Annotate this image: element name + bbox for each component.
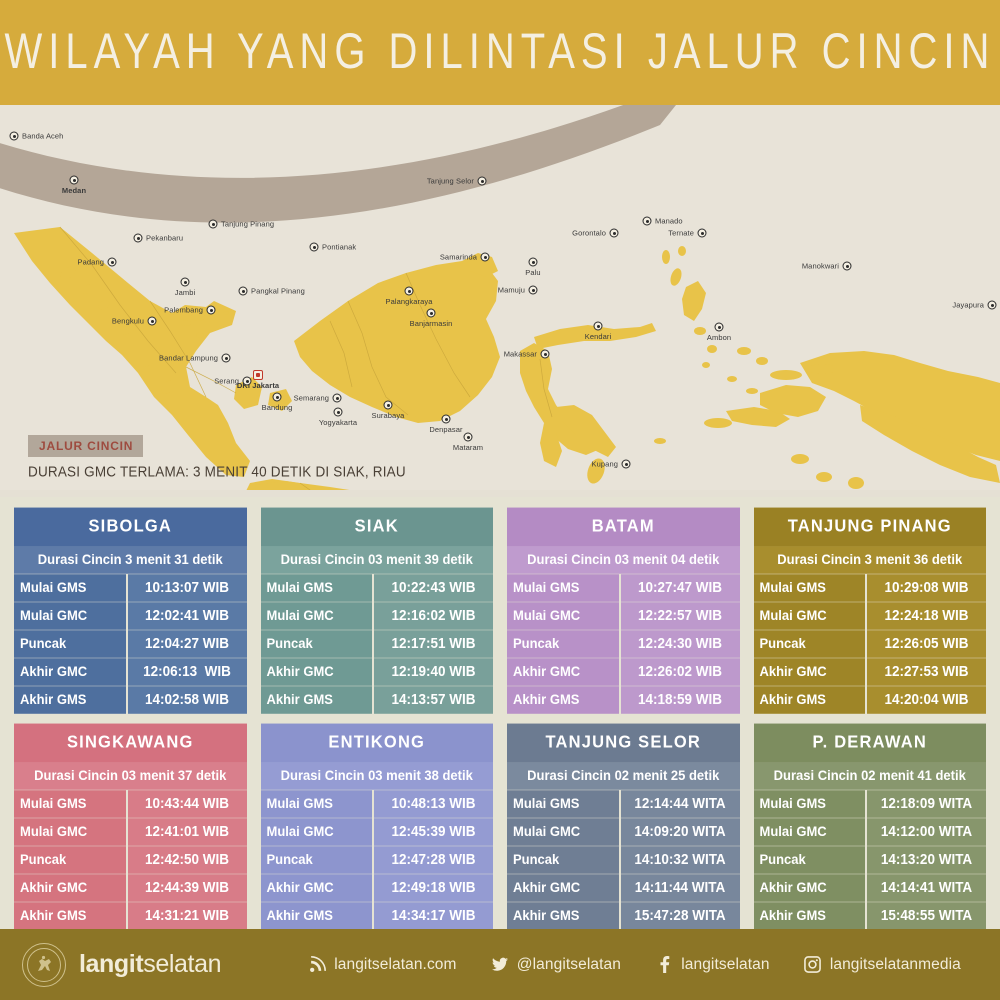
timing-row-value: 14:12:00 WITA bbox=[867, 818, 986, 846]
timing-row-value: 14:02:58 WIB bbox=[128, 686, 247, 714]
timing-card: ENTIKONGDurasi Cincin 03 menit 38 detikM… bbox=[261, 725, 494, 929]
city-marker bbox=[148, 317, 157, 326]
timing-row-value: 14:13:57 WIB bbox=[374, 686, 493, 714]
city-marker bbox=[181, 278, 190, 287]
timing-card: TANJUNG SELORDurasi Cincin 02 menit 25 d… bbox=[507, 725, 740, 929]
timing-row-value: 14:14:41 WITA bbox=[867, 874, 986, 902]
city-marker bbox=[464, 433, 473, 442]
table-row: Mulai GMS10:27:47 WIB bbox=[507, 575, 740, 601]
table-row: Mulai GMC14:09:20 WITA bbox=[507, 819, 740, 845]
timing-card-table: Mulai GMS10:27:47 WIBMulai GMC12:22:57 W… bbox=[507, 575, 740, 713]
table-row: Akhir GMS15:47:28 WITA bbox=[507, 903, 740, 929]
table-row: Akhir GMC12:26:02 WIB bbox=[507, 659, 740, 685]
table-row: Akhir GMS14:18:59 WIB bbox=[507, 687, 740, 713]
timing-row-label: Mulai GMS bbox=[754, 574, 866, 602]
social-link-twitter[interactable]: @langitselatan bbox=[491, 956, 621, 974]
timing-row-value: 12:41:01 WIB bbox=[128, 818, 247, 846]
city-marker bbox=[108, 258, 117, 267]
city-label: Denpasar bbox=[429, 425, 462, 434]
city-label: Kendari bbox=[585, 332, 612, 341]
timing-row-label: Mulai GMS bbox=[507, 790, 619, 818]
timing-card-title: TANJUNG SELOR bbox=[507, 724, 740, 763]
timing-card-table: Mulai GMS10:22:43 WIBMulai GMC12:16:02 W… bbox=[261, 575, 494, 713]
timing-row-value: 12:26:05 WIB bbox=[867, 630, 986, 658]
brand-wordmark-bold: langit bbox=[79, 950, 143, 978]
timing-card-table: Mulai GMS10:29:08 WIBMulai GMC12:24:18 W… bbox=[754, 575, 987, 713]
timing-row-label: Puncak bbox=[754, 846, 866, 874]
city-marker bbox=[310, 243, 319, 252]
timing-card-title: BATAM bbox=[507, 508, 740, 547]
city-marker bbox=[405, 287, 414, 296]
timing-row-label: Akhir GMC bbox=[14, 658, 126, 686]
table-row: Mulai GMS10:48:13 WIB bbox=[261, 791, 494, 817]
city-marker bbox=[622, 460, 631, 469]
timing-row-value: 12:22:57 WIB bbox=[621, 602, 740, 630]
city-marker bbox=[384, 401, 393, 410]
instagram-icon bbox=[804, 956, 822, 974]
city-marker bbox=[427, 309, 436, 318]
timing-row-value: 14:09:20 WITA bbox=[621, 818, 740, 846]
timing-row-value: 14:13:20 WITA bbox=[867, 846, 986, 874]
city-marker bbox=[239, 287, 248, 296]
timing-row-value: 12:17:51 WIB bbox=[374, 630, 493, 658]
city-label: Bandar Lampung bbox=[159, 354, 218, 363]
city-label: Palangkaraya bbox=[385, 297, 432, 306]
timing-card-duration: Durasi Cincin 03 menit 04 detik bbox=[507, 546, 740, 574]
timing-row-label: Akhir GMS bbox=[754, 902, 866, 930]
table-row: Akhir GMS14:13:57 WIB bbox=[261, 687, 494, 713]
city-label: Manokwari bbox=[802, 262, 839, 271]
city-marker bbox=[594, 322, 603, 331]
timing-row-label: Mulai GMC bbox=[261, 818, 373, 846]
city-marker bbox=[442, 415, 451, 424]
table-row: Akhir GMC12:44:39 WIB bbox=[14, 875, 247, 901]
table-row: Akhir GMC12:19:40 WIB bbox=[261, 659, 494, 685]
timing-row-label: Akhir GMC bbox=[754, 874, 866, 902]
city-label: Pontianak bbox=[322, 243, 356, 252]
timing-card: SIBOLGADurasi Cincin 3 menit 31 detikMul… bbox=[14, 509, 247, 713]
timing-card: SINGKAWANGDurasi Cincin 03 menit 37 deti… bbox=[14, 725, 247, 929]
infographic-root: WILAYAH YANG DILINTASI JALUR CINCIN bbox=[0, 0, 1000, 1000]
table-row: Akhir GMS15:48:55 WITA bbox=[754, 903, 987, 929]
timing-card-duration: Durasi Cincin 02 menit 41 detik bbox=[754, 762, 987, 790]
table-row: Puncak12:42:50 WIB bbox=[14, 847, 247, 873]
timing-row-label: Mulai GMC bbox=[261, 602, 373, 630]
city-label: Bengkulu bbox=[112, 317, 144, 326]
table-row: Mulai GMS10:43:44 WIB bbox=[14, 791, 247, 817]
timing-row-label: Akhir GMC bbox=[261, 874, 373, 902]
timing-card: TANJUNG PINANGDurasi Cincin 3 menit 36 d… bbox=[754, 509, 987, 713]
timing-card-table: Mulai GMS12:14:44 WITAMulai GMC14:09:20 … bbox=[507, 791, 740, 929]
timing-row-label: Akhir GMS bbox=[14, 902, 126, 930]
timing-row-value: 14:34:17 WIB bbox=[374, 902, 493, 930]
city-label: Tanjung Selor bbox=[427, 177, 474, 186]
timing-card-duration: Durasi Cincin 02 menit 25 detik bbox=[507, 762, 740, 790]
table-row: Mulai GMS10:29:08 WIB bbox=[754, 575, 987, 601]
timing-row-value: 14:31:21 WIB bbox=[128, 902, 247, 930]
table-row: Mulai GMC12:16:02 WIB bbox=[261, 603, 494, 629]
table-row: Puncak12:26:05 WIB bbox=[754, 631, 987, 657]
city-label: Jambi bbox=[175, 288, 196, 297]
city-marker bbox=[333, 394, 342, 403]
brand-block: langitselatan bbox=[22, 943, 221, 987]
rss-icon bbox=[308, 956, 326, 974]
timing-row-label: Puncak bbox=[14, 630, 126, 658]
social-link-label: langitselatan bbox=[681, 956, 769, 974]
timing-row-value: 14:10:32 WITA bbox=[621, 846, 740, 874]
city-marker bbox=[481, 253, 490, 262]
city-label: Semarang bbox=[294, 394, 329, 403]
table-row: Puncak12:04:27 WIB bbox=[14, 631, 247, 657]
city-label: Ambon bbox=[707, 333, 731, 342]
timing-row-label: Mulai GMS bbox=[14, 790, 126, 818]
timing-row-value: 12:24:30 WIB bbox=[621, 630, 740, 658]
city-label: Serang bbox=[214, 377, 239, 386]
timing-row-label: Akhir GMS bbox=[754, 686, 866, 714]
timing-row-value: 12:02:41 WIB bbox=[128, 602, 247, 630]
timing-row-label: Akhir GMS bbox=[261, 902, 373, 930]
table-row: Mulai GMC14:12:00 WITA bbox=[754, 819, 987, 845]
timing-row-value: 10:22:43 WIB bbox=[374, 574, 493, 602]
city-label: Medan bbox=[62, 186, 86, 195]
timing-row-label: Akhir GMC bbox=[507, 658, 619, 686]
table-row: Akhir GMS14:02:58 WIB bbox=[14, 687, 247, 713]
city-marker bbox=[988, 301, 997, 310]
city-marker bbox=[529, 286, 538, 295]
timing-card: BATAMDurasi Cincin 03 menit 04 detikMula… bbox=[507, 509, 740, 713]
city-label: Palu bbox=[525, 268, 540, 277]
city-marker bbox=[843, 262, 852, 271]
timing-card-table: Mulai GMS10:13:07 WIBMulai GMC12:02:41 W… bbox=[14, 575, 247, 713]
timing-card-title: P. DERAWAN bbox=[754, 724, 987, 763]
timing-card-table: Mulai GMS10:48:13 WIBMulai GMC12:45:39 W… bbox=[261, 791, 494, 929]
city-marker bbox=[207, 306, 216, 315]
table-row: Puncak14:13:20 WITA bbox=[754, 847, 987, 873]
city-label: Banda Aceh bbox=[22, 132, 63, 141]
city-marker bbox=[334, 408, 343, 417]
table-row: Puncak14:10:32 WITA bbox=[507, 847, 740, 873]
timing-row-label: Puncak bbox=[261, 846, 373, 874]
city-marker bbox=[209, 220, 218, 229]
social-link-label: langitselatan.com bbox=[334, 956, 456, 974]
city-marker bbox=[541, 350, 550, 359]
social-link-rss[interactable]: langitselatan.com bbox=[308, 956, 456, 974]
timing-row-label: Mulai GMC bbox=[14, 818, 126, 846]
social-link-instagram[interactable]: langitselatanmedia bbox=[804, 956, 961, 974]
timing-row-label: Akhir GMS bbox=[507, 902, 619, 930]
timing-row-label: Puncak bbox=[261, 630, 373, 658]
timing-row-value: 10:13:07 WIB bbox=[128, 574, 247, 602]
table-row: Mulai GMS10:13:07 WIB bbox=[14, 575, 247, 601]
timing-row-value: 12:47:28 WIB bbox=[374, 846, 493, 874]
timing-row-label: Akhir GMS bbox=[261, 686, 373, 714]
legend-chip: JALUR CINCIN bbox=[28, 435, 143, 457]
timing-row-label: Akhir GMC bbox=[754, 658, 866, 686]
table-row: Mulai GMS12:18:09 WITA bbox=[754, 791, 987, 817]
city-marker bbox=[643, 217, 652, 226]
city-label: Kupang bbox=[592, 460, 618, 469]
timing-row-value: 12:06:13 WIB bbox=[128, 658, 247, 686]
langitselatan-seal-icon bbox=[22, 943, 66, 987]
footer-bar: langitselatan langitselatan.com@langitse… bbox=[0, 929, 1000, 1000]
legend-note: DURASI GMC TERLAMA: 3 MENIT 40 DETIK DI … bbox=[28, 463, 406, 480]
table-row: Mulai GMS10:22:43 WIB bbox=[261, 575, 494, 601]
table-row: Puncak12:17:51 WIB bbox=[261, 631, 494, 657]
social-links: langitselatan.com@langitselatanlangitsel… bbox=[221, 956, 978, 974]
city-label: Manado bbox=[655, 217, 683, 226]
timing-row-label: Puncak bbox=[754, 630, 866, 658]
city-label: Ternate bbox=[668, 229, 694, 238]
city-label: Mataram bbox=[453, 443, 483, 452]
table-row: Mulai GMS12:14:44 WITA bbox=[507, 791, 740, 817]
city-marker bbox=[134, 234, 143, 243]
table-row: Akhir GMC14:11:44 WITA bbox=[507, 875, 740, 901]
city-label: Banjarmasin bbox=[410, 319, 453, 328]
timing-card-duration: Durasi Cincin 03 menit 39 detik bbox=[261, 546, 494, 574]
city-marker bbox=[529, 258, 538, 267]
timing-row-label: Akhir GMC bbox=[261, 658, 373, 686]
table-row: Mulai GMC12:45:39 WIB bbox=[261, 819, 494, 845]
timing-card-table: Mulai GMS10:43:44 WIBMulai GMC12:41:01 W… bbox=[14, 791, 247, 929]
city-marker bbox=[222, 354, 231, 363]
timing-row-value: 12:04:27 WIB bbox=[128, 630, 247, 658]
timing-card-duration: Durasi Cincin 03 menit 37 detik bbox=[14, 762, 247, 790]
table-row: Akhir GMC14:14:41 WITA bbox=[754, 875, 987, 901]
indonesia-map-svg bbox=[0, 105, 1000, 490]
table-row: Mulai GMC12:02:41 WIB bbox=[14, 603, 247, 629]
social-link-label: @langitselatan bbox=[517, 956, 621, 974]
timing-row-label: Mulai GMS bbox=[754, 790, 866, 818]
table-row: Akhir GMC12:06:13 WIB bbox=[14, 659, 247, 685]
city-label: Gorontalo bbox=[572, 229, 606, 238]
timing-row-label: Mulai GMC bbox=[14, 602, 126, 630]
timing-row-value: 12:27:53 WIB bbox=[867, 658, 986, 686]
table-row: Mulai GMC12:24:18 WIB bbox=[754, 603, 987, 629]
table-row: Akhir GMC12:27:53 WIB bbox=[754, 659, 987, 685]
timing-row-value: 10:29:08 WIB bbox=[867, 574, 986, 602]
timing-row-value: 12:24:18 WIB bbox=[867, 602, 986, 630]
facebook-icon bbox=[655, 956, 673, 974]
timing-card: SIAKDurasi Cincin 03 menit 39 detikMulai… bbox=[261, 509, 494, 713]
city-marker bbox=[715, 323, 724, 332]
timing-row-label: Akhir GMS bbox=[507, 686, 619, 714]
timing-row-value: 10:43:44 WIB bbox=[128, 790, 247, 818]
city-label: Samarinda bbox=[440, 253, 477, 262]
timing-row-value: 14:18:59 WIB bbox=[621, 686, 740, 714]
timing-card-table: Mulai GMS12:18:09 WITAMulai GMC14:12:00 … bbox=[754, 791, 987, 929]
city-label: Padang bbox=[78, 258, 104, 267]
timing-row-label: Mulai GMS bbox=[261, 574, 373, 602]
city-marker bbox=[698, 229, 707, 238]
city-marker bbox=[10, 132, 19, 141]
timing-row-label: Akhir GMC bbox=[507, 874, 619, 902]
table-row: Mulai GMC12:22:57 WIB bbox=[507, 603, 740, 629]
brand-wordmark-light: selatan bbox=[143, 950, 221, 978]
table-row: Akhir GMS14:31:21 WIB bbox=[14, 903, 247, 929]
page-title: WILAYAH YANG DILINTASI JALUR CINCIN bbox=[5, 24, 996, 80]
timing-row-label: Puncak bbox=[507, 846, 619, 874]
city-marker bbox=[478, 177, 487, 186]
map-container: Banda AcehMedanTanjung PinangPekanbaruPa… bbox=[0, 105, 1000, 490]
timing-row-value: 12:26:02 WIB bbox=[621, 658, 740, 686]
city-marker bbox=[243, 377, 252, 386]
timing-card-title: SIAK bbox=[261, 508, 494, 547]
city-marker bbox=[70, 176, 79, 185]
table-row: Akhir GMS14:34:17 WIB bbox=[261, 903, 494, 929]
timing-card-title: SINGKAWANG bbox=[14, 724, 247, 763]
timing-row-value: 15:47:28 WITA bbox=[621, 902, 740, 930]
timing-card-duration: Durasi Cincin 3 menit 31 detik bbox=[14, 546, 247, 574]
timing-row-label: Mulai GMS bbox=[507, 574, 619, 602]
timing-row-value: 14:11:44 WITA bbox=[621, 874, 740, 902]
city-label: Pangkal Pinang bbox=[251, 287, 305, 296]
card-row-2: SINGKAWANGDurasi Cincin 03 menit 37 deti… bbox=[14, 725, 986, 929]
timing-row-value: 12:49:18 WIB bbox=[374, 874, 493, 902]
timing-row-value: 12:18:09 WITA bbox=[867, 790, 986, 818]
timing-row-label: Akhir GMC bbox=[14, 874, 126, 902]
timing-row-value: 10:48:13 WIB bbox=[374, 790, 493, 818]
timing-row-label: Mulai GMC bbox=[754, 602, 866, 630]
table-row: Puncak12:47:28 WIB bbox=[261, 847, 494, 873]
brand-wordmark: langitselatan bbox=[79, 950, 221, 979]
social-link-label: langitselatanmedia bbox=[830, 956, 961, 974]
social-link-facebook[interactable]: langitselatan bbox=[655, 956, 769, 974]
city-label: Yogyakarta bbox=[319, 418, 357, 427]
timing-row-label: Akhir GMS bbox=[14, 686, 126, 714]
timing-row-value: 10:27:47 WIB bbox=[621, 574, 740, 602]
table-row: Puncak12:24:30 WIB bbox=[507, 631, 740, 657]
timing-card: P. DERAWANDurasi Cincin 02 menit 41 deti… bbox=[754, 725, 987, 929]
city-timing-cards: SIBOLGADurasi Cincin 3 menit 31 detikMul… bbox=[0, 497, 1000, 929]
timing-card-duration: Durasi Cincin 03 menit 38 detik bbox=[261, 762, 494, 790]
table-row: Akhir GMS14:20:04 WIB bbox=[754, 687, 987, 713]
city-label: Tanjung Pinang bbox=[221, 220, 274, 229]
table-row: Mulai GMC12:41:01 WIB bbox=[14, 819, 247, 845]
timing-row-value: 12:45:39 WIB bbox=[374, 818, 493, 846]
header-bar: WILAYAH YANG DILINTASI JALUR CINCIN bbox=[0, 0, 1000, 105]
timing-row-label: Mulai GMS bbox=[14, 574, 126, 602]
city-label: Palembang bbox=[164, 306, 203, 315]
twitter-icon bbox=[491, 956, 509, 974]
timing-row-value: 12:44:39 WIB bbox=[128, 874, 247, 902]
timing-row-value: 12:19:40 WIB bbox=[374, 658, 493, 686]
timing-row-value: 12:14:44 WITA bbox=[621, 790, 740, 818]
card-row-1: SIBOLGADurasi Cincin 3 menit 31 detikMul… bbox=[14, 509, 986, 713]
city-label: Surabaya bbox=[372, 411, 405, 420]
city-label: Makassar bbox=[504, 350, 537, 359]
timing-row-label: Puncak bbox=[14, 846, 126, 874]
timing-row-label: Mulai GMC bbox=[507, 818, 619, 846]
city-marker bbox=[253, 370, 263, 380]
city-label: Jayapura bbox=[952, 301, 984, 310]
timing-row-label: Mulai GMC bbox=[507, 602, 619, 630]
city-marker bbox=[273, 393, 282, 402]
timing-row-label: Mulai GMS bbox=[261, 790, 373, 818]
city-label: Bandung bbox=[262, 403, 293, 412]
table-row: Akhir GMC12:49:18 WIB bbox=[261, 875, 494, 901]
timing-row-label: Puncak bbox=[507, 630, 619, 658]
city-label: Mamuju bbox=[498, 286, 525, 295]
timing-card-title: SIBOLGA bbox=[14, 508, 247, 547]
timing-card-title: ENTIKONG bbox=[261, 724, 494, 763]
city-marker bbox=[610, 229, 619, 238]
timing-row-value: 15:48:55 WITA bbox=[867, 902, 986, 930]
city-label: Pekanbaru bbox=[146, 234, 183, 243]
timing-row-label: Mulai GMC bbox=[754, 818, 866, 846]
timing-row-value: 12:16:02 WIB bbox=[374, 602, 493, 630]
timing-row-value: 14:20:04 WIB bbox=[867, 686, 986, 714]
timing-card-duration: Durasi Cincin 3 menit 36 detik bbox=[754, 546, 987, 574]
timing-card-title: TANJUNG PINANG bbox=[754, 508, 987, 547]
seal-horse-glyph bbox=[29, 950, 59, 980]
timing-row-value: 12:42:50 WIB bbox=[128, 846, 247, 874]
